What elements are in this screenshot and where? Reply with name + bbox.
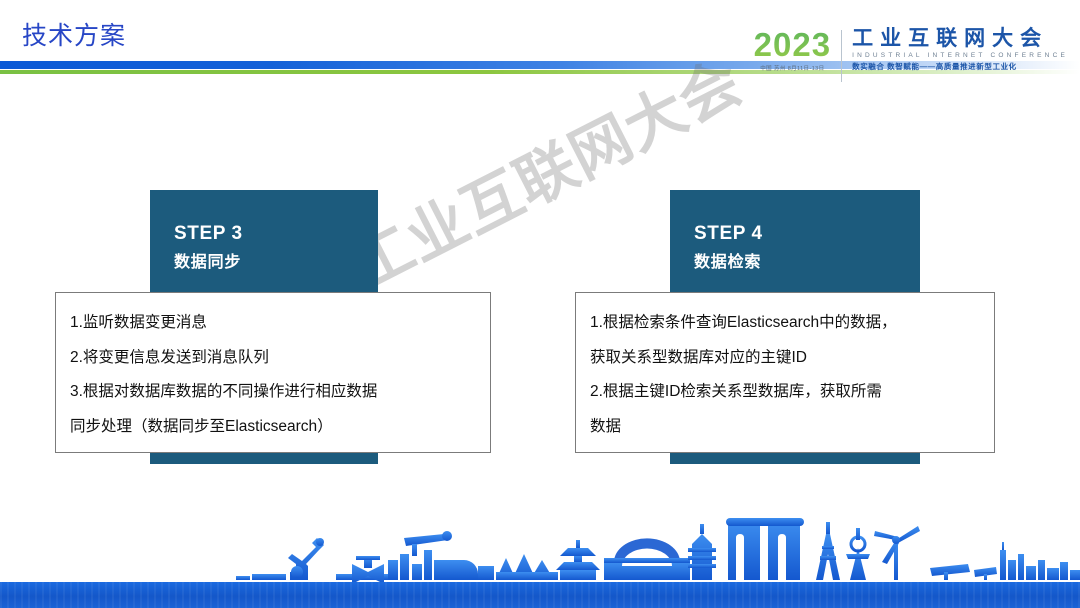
step-line: 3.根据对数据库数据的不同操作进行相应数据 [70,378,478,407]
bottom-blue-band [0,582,1080,608]
step-label-4: STEP 4 [694,220,920,249]
step-group-3: STEP 3 数据同步 1.监听数据变更消息 2.将变更信息发送到消息队列 3.… [0,0,540,608]
step-body-3: 1.监听数据变更消息 2.将变更信息发送到消息队列 3.根据对数据库数据的不同操… [55,292,491,453]
step-label-3: STEP 3 [174,220,378,249]
step-line: 同步处理（数据同步至Elasticsearch） [70,413,478,442]
step-line: 获取关系型数据库对应的主键ID [590,344,982,373]
step-line: 数据 [590,413,982,442]
step-line: 1.根据检索条件查询Elasticsearch中的数据， [590,309,982,338]
step-line: 1.监听数据变更消息 [70,309,478,338]
step-body-4: 1.根据检索条件查询Elasticsearch中的数据， 获取关系型数据库对应的… [575,292,995,453]
step-line: 2.将变更信息发送到消息队列 [70,344,478,373]
step-group-4: STEP 4 数据检索 1.根据检索条件查询Elasticsearch中的数据，… [540,0,1080,608]
step-line: 2.根据主键ID检索关系型数据库，获取所需 [590,378,982,407]
step-name-3: 数据同步 [174,249,378,276]
presentation-slide: 技术方案 2023 中国 苏州 8月11日-13日 工业互联网大会 INDUST… [0,0,1080,608]
step-name-4: 数据检索 [694,249,920,276]
